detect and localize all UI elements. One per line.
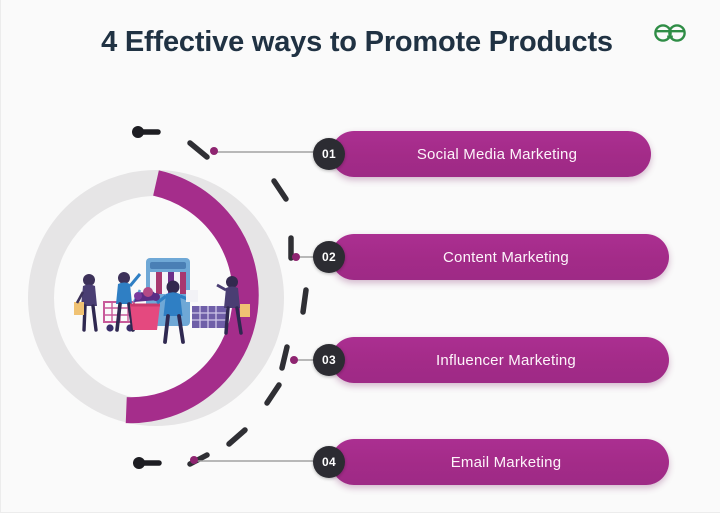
list-item[interactable]: 04 Email Marketing	[313, 439, 669, 485]
promotion-method-pill[interactable]: Social Media Marketing	[331, 131, 651, 177]
status-badge: 03	[313, 344, 345, 376]
infographic-canvas: 4 Effective ways to Promote Products	[0, 0, 720, 513]
status-badge: 01	[313, 138, 345, 170]
promotion-method-pill[interactable]: Content Marketing	[331, 234, 669, 280]
status-badge: 02	[313, 241, 345, 273]
promotion-method-pill[interactable]: Influencer Marketing	[331, 337, 669, 383]
list-item[interactable]: 03 Influencer Marketing	[313, 337, 669, 383]
progress-donut-chart	[17, 155, 307, 445]
shopping-marketplace-illustration	[72, 250, 252, 355]
page-title: 4 Effective ways to Promote Products	[97, 22, 617, 63]
geeksforgeeks-logo-icon	[648, 18, 692, 48]
promotion-method-pill[interactable]: Email Marketing	[331, 439, 669, 485]
list-item[interactable]: 01 Social Media Marketing	[313, 131, 651, 177]
list-item[interactable]: 02 Content Marketing	[313, 234, 669, 280]
status-badge: 04	[313, 446, 345, 478]
